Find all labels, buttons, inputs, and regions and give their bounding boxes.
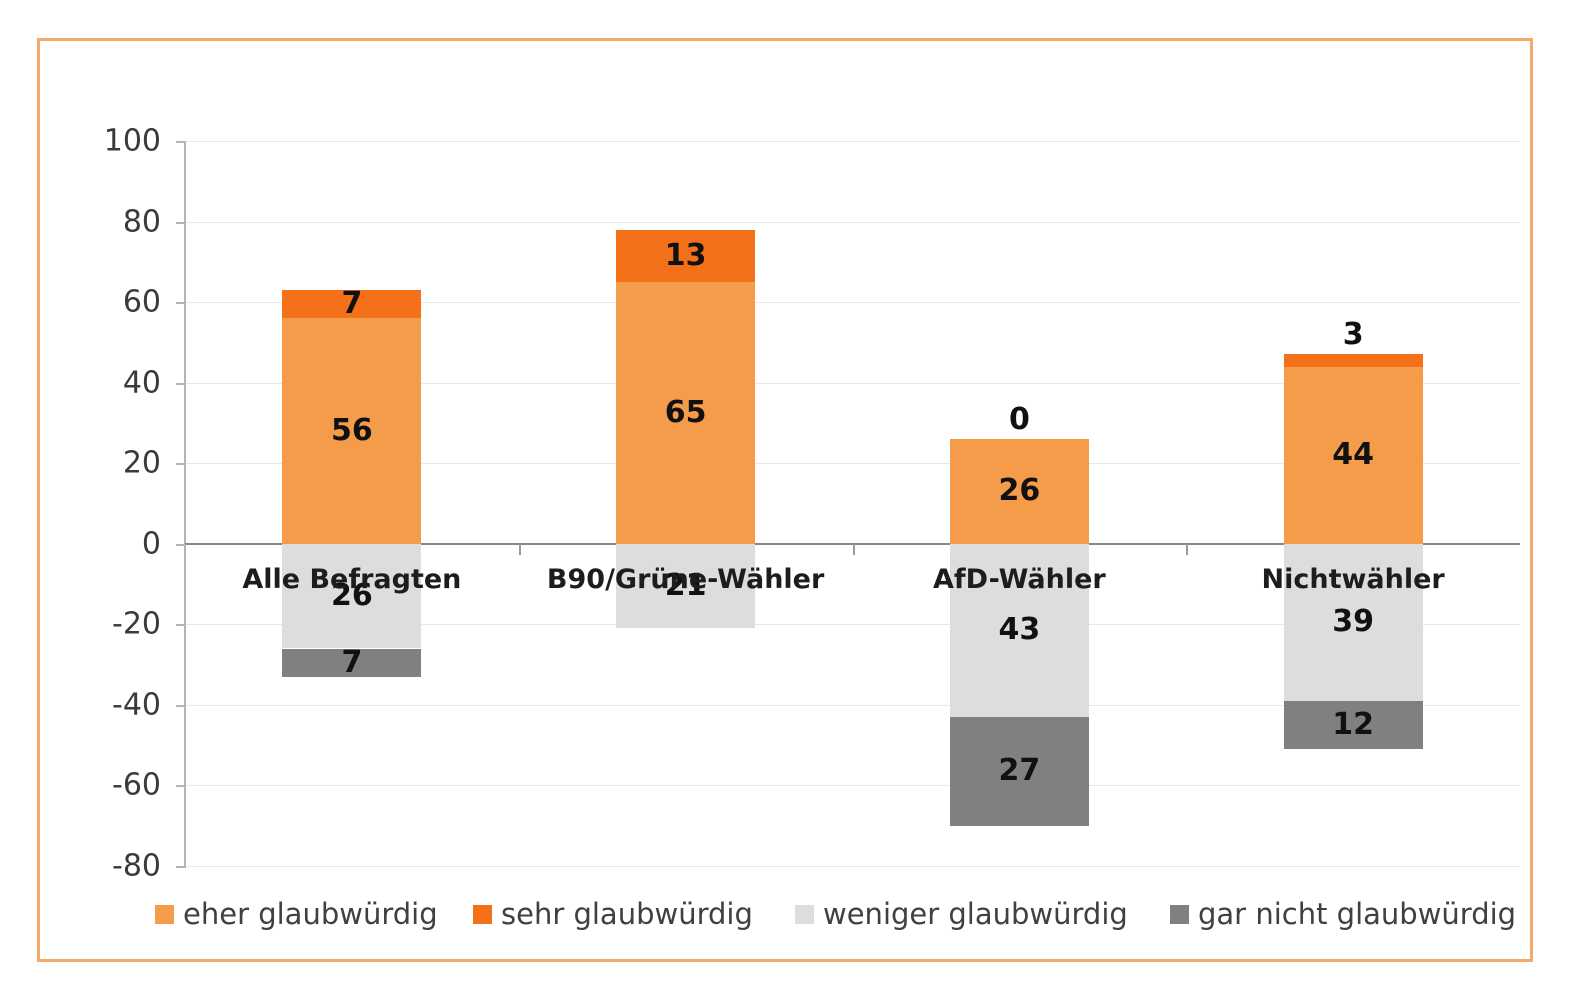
legend-label: weniger glaubwürdig	[823, 897, 1128, 931]
bar-value-label: 27	[999, 756, 1041, 786]
category-label: Nichtwähler	[1186, 564, 1520, 595]
y-axis-tick-label: 60	[40, 285, 161, 320]
category-label: Alle Befragten	[185, 564, 519, 595]
bar-segment: 56	[282, 318, 421, 544]
bar-segment: 26	[950, 439, 1089, 544]
bar-value-label: 7	[341, 289, 362, 319]
legend-swatch-icon	[473, 905, 492, 924]
category-label: B90/Grüne-Wähler	[519, 564, 853, 595]
bar-segment: 26	[282, 544, 421, 649]
bar-value-label: 0	[950, 405, 1089, 435]
x-axis-tick	[1186, 544, 1188, 555]
bar-segment: 7	[282, 290, 421, 318]
bar-group: 567267	[282, 141, 421, 866]
plot-area: 56726765132126043274433912	[185, 141, 1520, 866]
bar-value-label: 26	[999, 476, 1041, 506]
y-axis-tick	[176, 866, 186, 868]
y-axis-tick-label: -60	[40, 768, 161, 803]
bar-value-label: 13	[665, 241, 707, 271]
legend-item[interactable]: weniger glaubwürdig	[795, 897, 1128, 931]
bar-segment: 3	[1284, 354, 1423, 366]
bar-group: 4433912	[1284, 141, 1423, 866]
y-axis-tick-label: -40	[40, 687, 161, 722]
bar-segment: 12	[1284, 701, 1423, 749]
bar-segment: 13	[616, 230, 755, 282]
bar-segment: 7	[282, 649, 421, 677]
bar-value-label: 65	[665, 398, 707, 428]
y-axis-tick-label: 0	[40, 526, 161, 561]
legend-swatch-icon	[155, 905, 174, 924]
legend-item[interactable]: eher glaubwürdig	[155, 897, 438, 931]
legend-item[interactable]: sehr glaubwürdig	[473, 897, 753, 931]
gridline	[185, 866, 1520, 867]
y-axis-tick-label: 80	[40, 204, 161, 239]
chart-screenshot: 100806040200-20-40-60-80 567267651321260…	[0, 0, 1570, 1002]
bar-segment: 27	[950, 717, 1089, 826]
y-axis-tick-label: 40	[40, 365, 161, 400]
legend-label: sehr glaubwürdig	[501, 897, 753, 931]
bar-value-label: 7	[341, 648, 362, 678]
bar-group: 651321	[616, 141, 755, 866]
bar-group: 2604327	[950, 141, 1089, 866]
bar-value-label: 39	[1332, 607, 1374, 637]
chart-frame: 100806040200-20-40-60-80 567267651321260…	[37, 38, 1533, 962]
bar-value-label: 3	[1284, 320, 1423, 350]
y-axis-tick-label: 20	[40, 446, 161, 481]
bar-value-label: 56	[331, 416, 373, 446]
bar-segment: 65	[616, 282, 755, 544]
y-axis-tick-label: 100	[40, 124, 161, 159]
x-axis-tick	[853, 544, 855, 555]
legend-label: eher glaubwürdig	[183, 897, 438, 931]
bar-value-label: 43	[999, 615, 1041, 645]
bar-segment: 44	[1284, 367, 1423, 544]
y-axis-tick-label: -20	[40, 607, 161, 642]
legend-swatch-icon	[795, 905, 814, 924]
x-axis-tick	[519, 544, 521, 555]
bar-value-label: 12	[1332, 710, 1374, 740]
category-label: AfD-Wähler	[853, 564, 1187, 595]
legend-item[interactable]: gar nicht glaubwürdig	[1170, 897, 1516, 931]
bar-value-label: 44	[1332, 440, 1374, 470]
legend-swatch-icon	[1170, 905, 1189, 924]
legend-label: gar nicht glaubwürdig	[1198, 897, 1516, 931]
y-axis-tick-label: -80	[40, 849, 161, 884]
